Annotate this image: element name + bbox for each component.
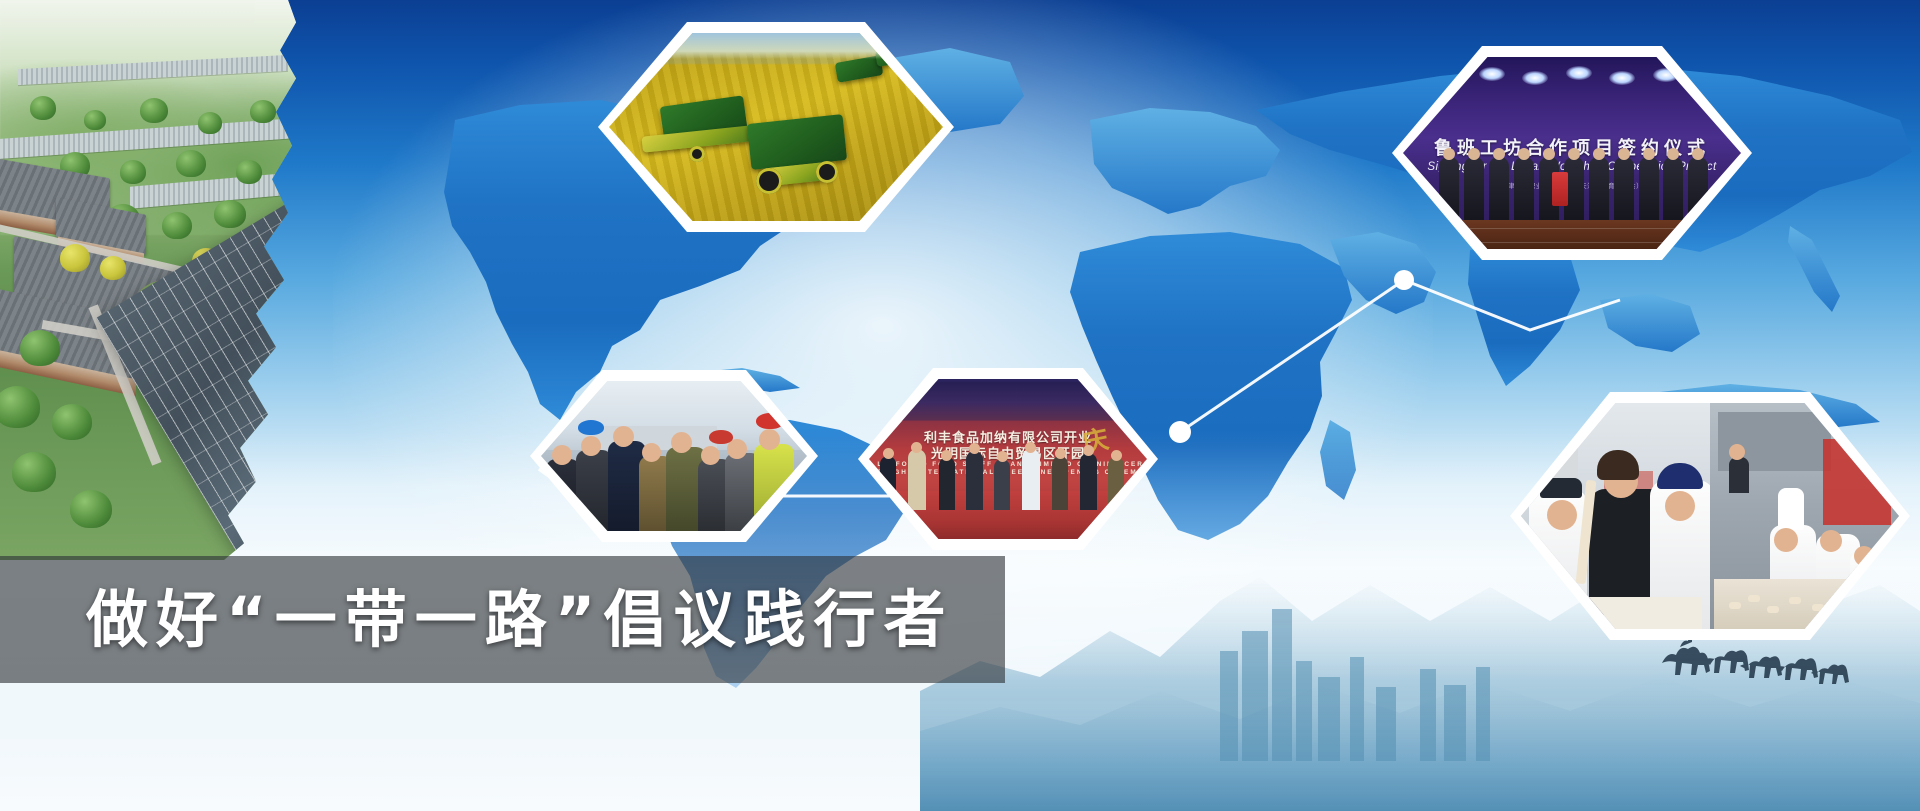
landmass-japan [1788,226,1840,312]
banner-stage: 鲁班工坊合作项目签约仪式 Signing for the Luban Works… [0,0,1920,811]
blue-hard-hat [578,420,604,435]
title-banner: 做好“一带一路”倡议践行者 [0,556,1005,683]
banner-title-text: 做好“一带一路”倡议践行者 [86,589,954,651]
red-hard-hat [709,430,733,444]
landmass-india [1468,244,1580,386]
red-hard-hat [756,413,784,429]
landmass-europe [1090,108,1280,214]
landmass-southeast-asia [1600,294,1700,352]
signing-attendees [1433,157,1710,222]
chef-cap [1540,478,1582,498]
signing-desk [1427,220,1718,249]
toque-hat [1778,488,1804,530]
